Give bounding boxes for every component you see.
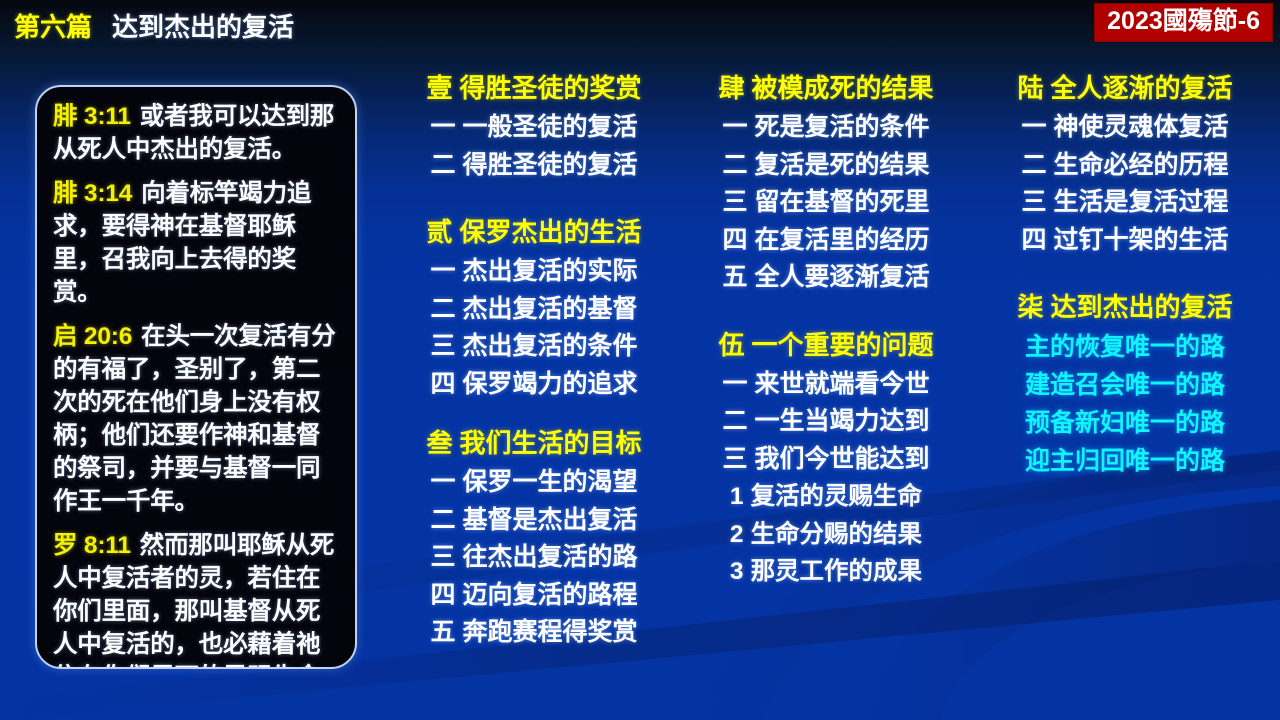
verse-item: 启 20:6在头一次复活有分的有福了，圣别了，第二次的死在他们身上没有权柄；他们… <box>53 320 339 518</box>
verse-reference: 启 20:6 <box>53 323 132 350</box>
outline-item: 建造召会唯一的路 <box>985 366 1265 404</box>
outline-item: 二复活是死的结果 <box>690 147 962 185</box>
item-marker: 二 <box>430 506 455 534</box>
outline-item: 三往杰出复活的路 <box>400 539 668 577</box>
section-heading: 肆被模成死的结果 <box>690 70 962 106</box>
item-text: 来世就端看今世 <box>755 370 930 398</box>
section-title: 保罗杰出的生活 <box>460 217 642 247</box>
item-marker: 五 <box>430 618 455 646</box>
slide-canvas: 第六篇达到杰出的复活 2023國殤節-6 腓 3:11或者我可以达到那从死人中杰… <box>0 0 1280 720</box>
item-marker: 一 <box>430 113 455 141</box>
outline-item: 预备新妇唯一的路 <box>985 404 1265 442</box>
section-heading: 陆全人逐渐的复活 <box>985 70 1265 106</box>
outline-item: 二基督是杰出复活 <box>400 502 668 540</box>
item-marker: 2 <box>730 521 744 548</box>
item-text: 杰出复活的实际 <box>463 257 638 285</box>
section-label: 叁 <box>426 428 452 458</box>
verse-item: 罗 8:11然而那叫耶稣从死人中复活者的灵，若住在你们里面，那叫基督从死人中复活… <box>53 529 339 669</box>
outline-column-1: 壹得胜圣徒的奖赏 一一般圣徒的复活 二得胜圣徒的复活 贰保罗杰出的生活 一杰出复… <box>400 70 668 652</box>
section-heading: 伍一个重要的问题 <box>690 327 962 363</box>
outline-item: 四迈向复活的路程 <box>400 577 668 615</box>
item-marker: 一 <box>722 370 747 398</box>
outline-item: 主的恢复唯一的路 <box>985 328 1265 366</box>
outline-item: 二生命必经的历程 <box>985 147 1265 185</box>
section-label: 伍 <box>718 330 744 360</box>
status-badge: 2023國殤節-6 <box>1095 4 1272 41</box>
outline-item: 四过钉十架的生活 <box>985 222 1265 260</box>
item-text: 杰出复活的基督 <box>463 295 638 323</box>
outline-item: 三生活是复活过程 <box>985 184 1265 222</box>
section-label: 陆 <box>1017 73 1043 103</box>
item-text: 迎主归回唯一的路 <box>1025 447 1225 475</box>
item-text: 那灵工作的成果 <box>751 558 923 585</box>
outline-item: 二得胜圣徒的复活 <box>400 147 668 185</box>
outline-item: 五全人要逐渐复活 <box>690 259 962 297</box>
spacer <box>690 297 962 327</box>
item-marker: 四 <box>1021 226 1046 254</box>
outline-item: 一神使灵魂体复活 <box>985 109 1265 147</box>
item-text: 保罗竭力的追求 <box>463 370 638 398</box>
slide-header: 第六篇达到杰出的复活 2023國殤節-6 <box>0 0 1280 44</box>
item-text: 往杰出复活的路 <box>463 543 638 571</box>
item-marker: 二 <box>430 151 455 179</box>
item-marker: 二 <box>1021 151 1046 179</box>
item-text: 过钉十架的生活 <box>1054 226 1229 254</box>
item-text: 一生当竭力达到 <box>755 407 930 435</box>
section-heading: 叁我们生活的目标 <box>400 425 668 461</box>
item-marker: 二 <box>722 407 747 435</box>
section-title: 被模成死的结果 <box>752 73 934 103</box>
verse-item: 腓 3:11或者我可以达到那从死人中杰出的复活。 <box>53 100 339 166</box>
item-marker: 三 <box>722 445 747 473</box>
outline-item: 一保罗一生的渴望 <box>400 464 668 502</box>
item-text: 留在基督的死里 <box>755 188 930 216</box>
item-marker: 二 <box>722 151 747 179</box>
verse-item: 腓 3:14向着标竿竭力追求，要得神在基督耶稣里，召我向上去得的奖赏。 <box>53 177 339 309</box>
spacer <box>400 403 668 425</box>
outline-item: 三我们今世能达到 <box>690 441 962 479</box>
section-title: 得胜圣徒的奖赏 <box>460 73 642 103</box>
outline-column-3: 陆全人逐渐的复活 一神使灵魂体复活 二生命必经的历程 三生活是复活过程 四过钉十… <box>985 70 1265 480</box>
item-marker: 三 <box>1021 188 1046 216</box>
outline-item: 迎主归回唯一的路 <box>985 442 1265 480</box>
item-text: 主的恢复唯一的路 <box>1025 333 1225 361</box>
item-marker: 四 <box>430 370 455 398</box>
chapter-label: 第六篇 <box>14 12 92 42</box>
item-text: 基督是杰出复活 <box>463 506 638 534</box>
section-title: 全人逐渐的复活 <box>1051 73 1233 103</box>
item-text: 生命必经的历程 <box>1054 151 1229 179</box>
item-text: 预备新妇唯一的路 <box>1025 409 1225 437</box>
outline-item: 一来世就端看今世 <box>690 366 962 404</box>
outline-item: 四在复活里的经历 <box>690 222 962 260</box>
section-label: 柒 <box>1017 292 1043 322</box>
item-text: 神使灵魂体复活 <box>1054 113 1229 141</box>
item-text: 保罗一生的渴望 <box>463 468 638 496</box>
item-text: 复活是死的结果 <box>755 151 930 179</box>
item-text: 全人要逐渐复活 <box>755 263 930 291</box>
outline-subitem: 2生命分赐的结果 <box>690 516 962 554</box>
item-text: 死是复活的条件 <box>755 113 930 141</box>
verse-reference: 腓 3:11 <box>53 103 131 130</box>
outline-item: 一杰出复活的实际 <box>400 253 668 291</box>
section-label: 壹 <box>426 73 452 103</box>
outline-item: 一一般圣徒的复活 <box>400 109 668 147</box>
section-label: 贰 <box>426 217 452 247</box>
item-marker: 四 <box>430 581 455 609</box>
item-marker: 四 <box>722 226 747 254</box>
section-heading: 贰保罗杰出的生活 <box>400 214 668 250</box>
item-text: 生命分赐的结果 <box>751 521 923 548</box>
item-text: 杰出复活的条件 <box>463 332 638 360</box>
chapter-title: 达到杰出的复活 <box>112 12 294 42</box>
item-marker: 三 <box>430 332 455 360</box>
section-label: 肆 <box>718 73 744 103</box>
item-text: 奔跑赛程得奖赏 <box>463 618 638 646</box>
item-text: 得胜圣徒的复活 <box>463 151 638 179</box>
item-text: 我们今世能达到 <box>755 445 930 473</box>
outline-item: 五奔跑赛程得奖赏 <box>400 614 668 652</box>
item-text: 复活的灵赐生命 <box>751 483 923 510</box>
item-text: 一般圣徒的复活 <box>463 113 638 141</box>
item-text: 建造召会唯一的路 <box>1025 371 1225 399</box>
section-heading: 柒达到杰出的复活 <box>985 289 1265 325</box>
section-title: 达到杰出的复活 <box>1051 292 1233 322</box>
outline-subitem: 3那灵工作的成果 <box>690 553 962 591</box>
verse-reference: 腓 3:14 <box>53 180 132 207</box>
item-marker: 3 <box>730 558 744 585</box>
verse-reference: 罗 8:11 <box>53 532 131 559</box>
item-marker: 一 <box>722 113 747 141</box>
outline-item: 一死是复活的条件 <box>690 109 962 147</box>
item-text: 生活是复活过程 <box>1054 188 1229 216</box>
outline-subitem: 1复活的灵赐生命 <box>690 478 962 516</box>
item-marker: 一 <box>1021 113 1046 141</box>
spacer <box>400 184 668 214</box>
item-marker: 三 <box>430 543 455 571</box>
section-title: 一个重要的问题 <box>752 330 934 360</box>
item-marker: 一 <box>430 468 455 496</box>
page-title: 第六篇达到杰出的复活 <box>14 7 294 44</box>
outline-item: 二杰出复活的基督 <box>400 291 668 329</box>
spacer <box>985 259 1265 289</box>
item-marker: 五 <box>722 263 747 291</box>
outline-item: 四保罗竭力的追求 <box>400 366 668 404</box>
verse-text: 在头一次复活有分的有福了，圣别了，第二次的死在他们身上没有权柄；他们还要作神和基… <box>53 323 336 515</box>
verse-panel: 腓 3:11或者我可以达到那从死人中杰出的复活。 腓 3:14向着标竿竭力追求，… <box>35 85 357 669</box>
item-marker: 三 <box>722 188 747 216</box>
outline-column-2: 肆被模成死的结果 一死是复活的条件 二复活是死的结果 三留在基督的死里 四在复活… <box>690 70 962 591</box>
section-heading: 壹得胜圣徒的奖赏 <box>400 70 668 106</box>
outline-item: 二一生当竭力达到 <box>690 403 962 441</box>
item-text: 迈向复活的路程 <box>463 581 638 609</box>
outline-item: 三杰出复活的条件 <box>400 328 668 366</box>
outline-item: 三留在基督的死里 <box>690 184 962 222</box>
item-marker: 一 <box>430 257 455 285</box>
item-marker: 二 <box>430 295 455 323</box>
item-text: 在复活里的经历 <box>755 226 930 254</box>
section-title: 我们生活的目标 <box>460 428 642 458</box>
item-marker: 1 <box>730 483 744 510</box>
